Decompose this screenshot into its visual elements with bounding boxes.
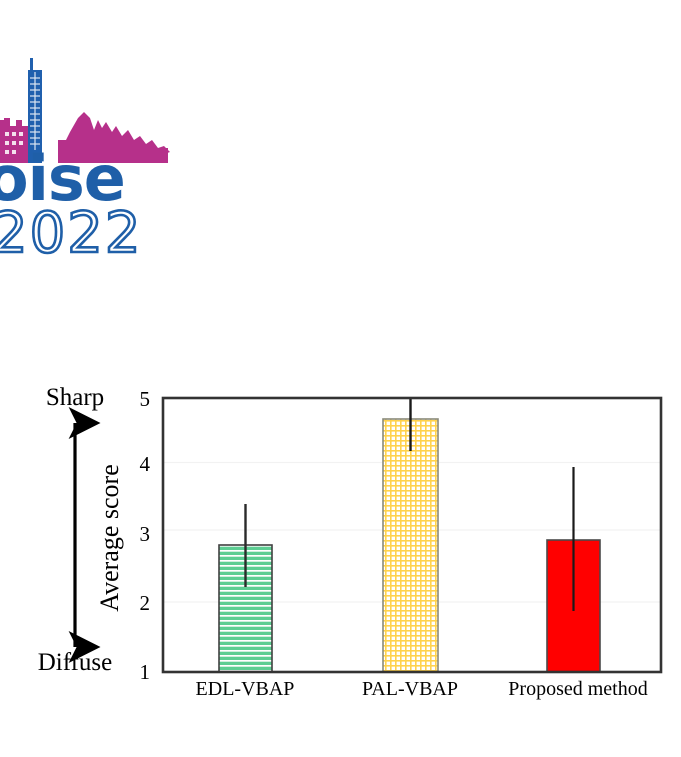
ytick-5: 5 (140, 387, 151, 411)
xtick-edl-vbap: EDL-VBAP (196, 678, 295, 700)
xtick-pal-vbap: PAL-VBAP (362, 678, 458, 700)
xtick-proposed-method: Proposed method (508, 678, 647, 700)
bar-pal-vbap (383, 419, 438, 672)
ytick-4: 4 (140, 452, 151, 476)
scale-label-diffuse: Diffuse (38, 649, 113, 676)
y-axis-title: Average score (95, 464, 124, 611)
scale-label-sharp: Sharp (46, 384, 104, 411)
ytick-2: 2 (140, 591, 151, 615)
average-score-bar-chart: 5 4 3 2 1 Average score Sharp Diffuse ED… (0, 370, 681, 700)
ytick-3: 3 (140, 522, 151, 546)
logo-year: 2022 (0, 201, 143, 255)
internoise-2022-logo: oise 2022 (0, 40, 240, 255)
ytick-1: 1 (140, 660, 151, 684)
